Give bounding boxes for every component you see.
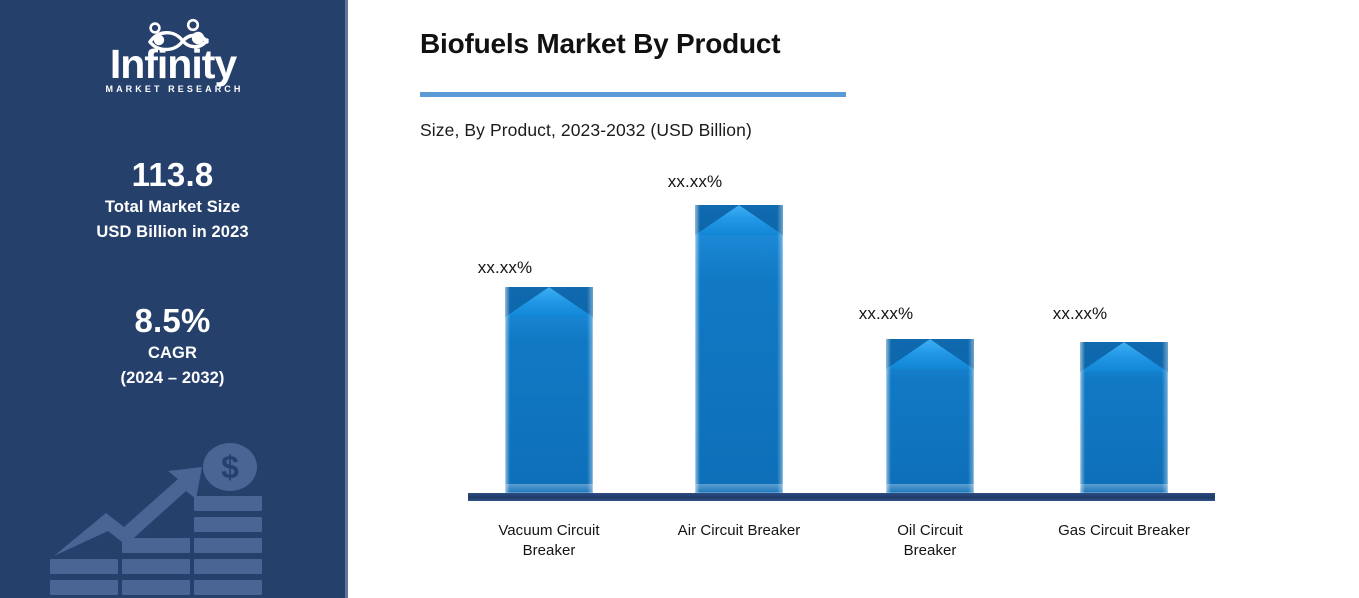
bar-left-highlight <box>886 339 891 493</box>
stat-cagr-label-2: (2024 – 2032) <box>0 366 345 391</box>
bar-vacuum-circuit-breaker <box>505 287 593 493</box>
bar-right-highlight <box>777 205 783 493</box>
bar-bottom-bevel <box>505 484 593 493</box>
stat-market-size: 113.8 Total Market Size USD Billion in 2… <box>0 156 345 245</box>
stat-cagr-label-1: CAGR <box>0 341 345 366</box>
bar-value-label: xx.xx% <box>651 172 739 192</box>
bar-air-circuit-breaker <box>695 205 783 493</box>
growth-arrow-coins-icon: $ <box>50 441 308 598</box>
stat-cagr: 8.5% CAGR (2024 – 2032) <box>0 302 345 391</box>
category-label-air-circuit-breaker: Air Circuit Breaker <box>651 521 827 541</box>
dollar-symbol: $ <box>221 449 239 485</box>
stat-cagr-value: 8.5% <box>0 302 345 341</box>
bar-right-highlight <box>1162 342 1168 493</box>
bar-left-highlight <box>505 287 510 493</box>
bar-value-label: xx.xx% <box>842 304 930 324</box>
bar-left-highlight <box>1080 342 1085 493</box>
bar-gas-circuit-breaker <box>1080 342 1168 493</box>
stat-market-size-label-2: USD Billion in 2023 <box>0 220 345 245</box>
bar-right-highlight <box>587 287 593 493</box>
bar-oil-circuit-breaker <box>886 339 974 493</box>
bar-top-bevel <box>695 205 783 235</box>
bar-left-highlight <box>695 205 700 493</box>
bar-bottom-bevel <box>1080 484 1168 493</box>
category-label-oil-circuit-breaker: Oil Circuit Breaker <box>870 521 990 560</box>
bar-bottom-bevel <box>695 484 783 493</box>
bar-top-bevel <box>505 287 593 317</box>
chart-baseline-axis <box>468 493 1215 501</box>
stat-market-size-label-1: Total Market Size <box>0 195 345 220</box>
infinity-people-icon: Infinity <box>88 12 258 90</box>
category-label-gas-circuit-breaker: Gas Circuit Breaker <box>1036 521 1212 541</box>
bar-value-label: xx.xx% <box>461 258 549 278</box>
stat-market-size-value: 113.8 <box>0 156 345 195</box>
brand-logo: Infinity MARKET RESEARCH <box>0 12 345 94</box>
bar-top-bevel <box>1080 342 1168 372</box>
category-label-vacuum-circuit-breaker: Vacuum Circuit Breaker <box>478 521 620 560</box>
bar-bottom-bevel <box>886 484 974 493</box>
chart-panel: Biofuels Market By Product Size, By Prod… <box>348 0 1359 598</box>
svg-text:Infinity: Infinity <box>109 41 237 87</box>
bar-top-bevel <box>886 339 974 369</box>
bar-right-highlight <box>968 339 974 493</box>
bar-chart-plot: xx.xx% Vacuum Circuit Breaker xx.xx% Air… <box>348 0 1359 598</box>
bar-value-label: xx.xx% <box>1036 304 1124 324</box>
sidebar-panel: Infinity MARKET RESEARCH 113.8 Total Mar… <box>0 0 345 598</box>
